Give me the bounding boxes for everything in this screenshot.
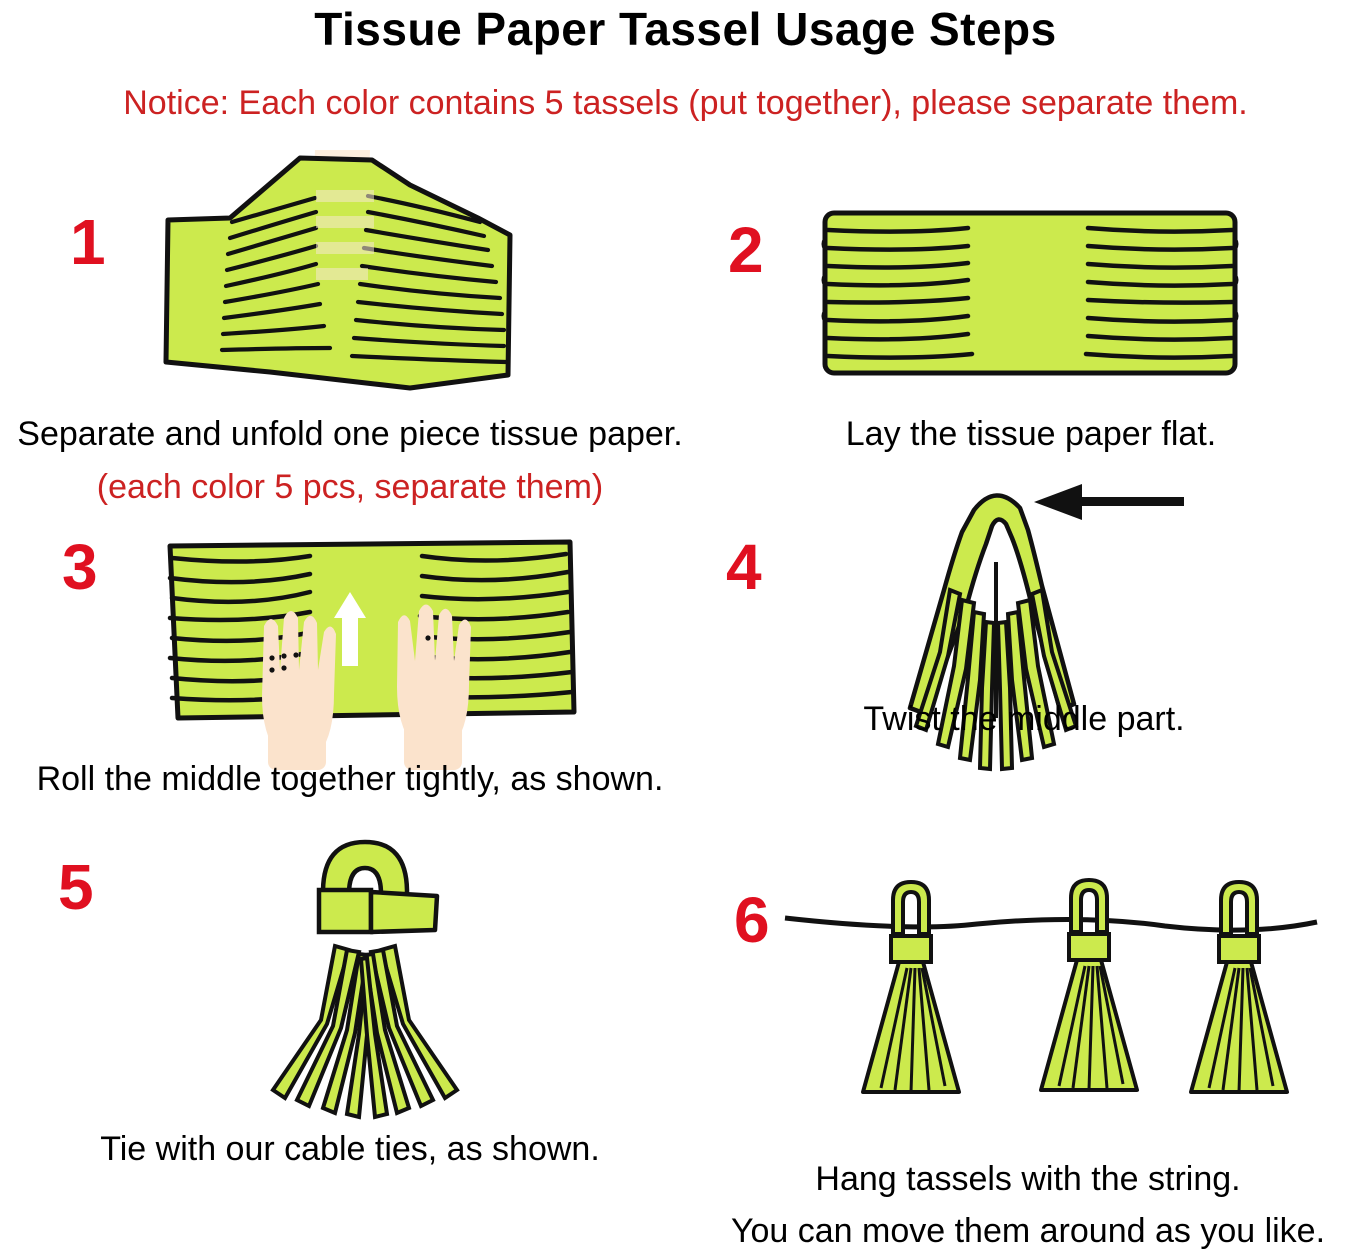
cable-tie — [319, 890, 437, 932]
step-6-subcaption: You can move them around as you like. — [678, 1212, 1371, 1251]
step-5-number: 5 — [58, 855, 94, 919]
step-4-number: 4 — [726, 535, 762, 599]
hanging-string — [785, 918, 1317, 930]
step-6-caption: Hang tassels with the string. — [678, 1160, 1371, 1199]
page-title: Tissue Paper Tassel Usage Steps — [0, 2, 1371, 56]
pointer-arrow — [1034, 484, 1184, 520]
step-6-number: 6 — [734, 888, 770, 952]
step-5-illustration — [215, 830, 515, 1110]
step-1-caption: Separate and unfold one piece tissue pap… — [0, 415, 700, 454]
step-2-caption: Lay the tissue paper flat. — [681, 415, 1371, 454]
step-3-illustration — [160, 540, 580, 770]
step-5-caption: Tie with our cable ties, as shown. — [0, 1130, 700, 1169]
step-1-subcaption: (each color 5 pcs, separate them) — [0, 468, 700, 507]
step-2-number: 2 — [728, 218, 764, 282]
step-1-number: 1 — [70, 210, 106, 274]
step-4-caption: Twist the middle part. — [674, 700, 1371, 739]
step-3-caption: Roll the middle together tightly, as sho… — [0, 760, 700, 799]
step-2-illustration — [820, 208, 1240, 378]
step-3-number: 3 — [62, 535, 98, 599]
step-6-illustration — [781, 880, 1321, 1130]
step-1-illustration — [110, 150, 580, 410]
notice-text: Notice: Each color contains 5 tassels (p… — [0, 84, 1371, 123]
